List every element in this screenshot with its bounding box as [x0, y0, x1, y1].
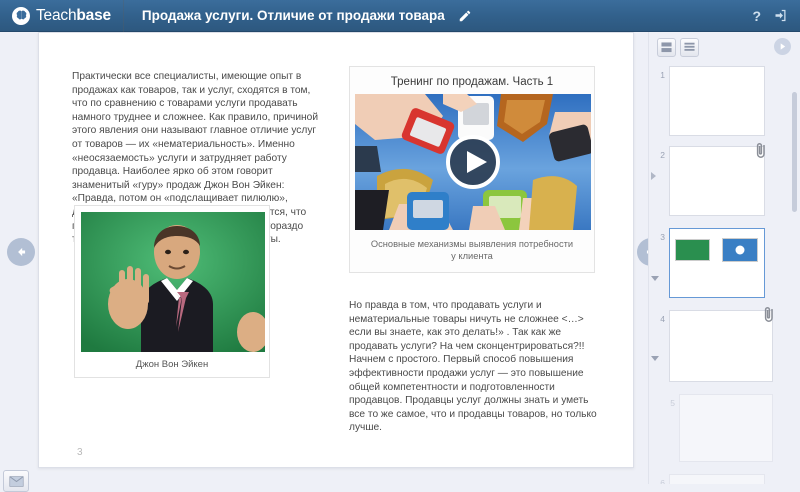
list-item[interactable]: 3 [649, 228, 800, 298]
slide-canvas: Практически все специалисты, имеющие опы… [38, 32, 634, 468]
list-item[interactable]: 6 [649, 474, 800, 484]
right-text-column: Но правда в том, что продавать услуги и … [349, 299, 599, 435]
topbar-actions: ? [752, 8, 800, 24]
envelope-icon [9, 476, 24, 487]
document-title: Продажа услуги. Отличие от продажи товар… [142, 8, 445, 23]
list-item[interactable]: 5 [659, 394, 800, 462]
logout-icon[interactable] [773, 8, 788, 23]
list-item[interactable]: 2 [649, 146, 800, 216]
portrait-figure: Джон Вон Эйкен [74, 205, 270, 378]
thumbnail-number: 4 [649, 310, 665, 324]
topbar-divider [123, 0, 124, 32]
brand-suffix: base [76, 7, 111, 24]
collapse-panel-icon[interactable] [774, 38, 791, 55]
video-player[interactable] [355, 94, 591, 230]
prev-page-button[interactable] [7, 238, 35, 266]
portrait-image [81, 212, 265, 352]
brand-prefix: Teach [36, 7, 76, 24]
top-bar: Teachbase Продажа услуги. Отличие от про… [0, 0, 800, 32]
video-figure: Тренинг по продажам. Часть 1 [349, 66, 595, 273]
thumbnail-sidebar: 1 2 [648, 32, 800, 484]
help-icon[interactable]: ? [752, 8, 761, 24]
messages-button[interactable] [3, 470, 29, 492]
expand-marker[interactable] [651, 172, 656, 180]
thumbnail-number: 1 [649, 66, 665, 80]
thumbnail-number: 2 [649, 146, 665, 160]
page-number: 3 [77, 447, 83, 458]
paragraph-right: Но правда в том, что продавать услуги и … [349, 299, 599, 435]
view-mode-toggle [657, 38, 699, 57]
thumbnail-page-5[interactable] [679, 394, 773, 462]
workspace: Практически все специалисты, имеющие опы… [0, 32, 800, 484]
thumbnail-number: 5 [659, 394, 675, 408]
view-list-icon[interactable] [680, 38, 699, 57]
attachment-clip-icon [763, 306, 776, 323]
thumbnail-list[interactable]: 1 2 [649, 62, 800, 484]
collapse-marker[interactable] [651, 356, 659, 361]
video-caption: Основные механизмы выявления потребности… [355, 230, 589, 266]
attachment-clip-icon [755, 142, 768, 159]
thumbnail-page-2[interactable] [669, 146, 765, 216]
portrait-caption: Джон Вон Эйкен [81, 352, 263, 373]
sidebar-header [649, 32, 800, 62]
list-item[interactable]: 1 [649, 66, 800, 136]
brain-icon [12, 7, 30, 25]
thumbnail-page-1[interactable] [669, 66, 765, 136]
collapse-marker[interactable] [651, 276, 659, 281]
pencil-icon[interactable] [457, 8, 473, 24]
arrow-left-icon [14, 245, 28, 259]
brand-logo[interactable]: Teachbase [0, 7, 111, 25]
thumbnail-page-6[interactable] [669, 474, 765, 484]
thumbnail-page-3[interactable] [669, 228, 765, 298]
brand-name: Teachbase [36, 7, 111, 25]
list-item[interactable]: 4 [649, 310, 800, 382]
sidebar-scrollbar[interactable] [792, 92, 797, 212]
view-split-icon[interactable] [657, 38, 676, 57]
video-title: Тренинг по продажам. Часть 1 [355, 72, 589, 94]
thumbnail-page-4[interactable] [669, 310, 773, 382]
thumbnail-number: 6 [649, 474, 665, 484]
play-button-icon[interactable] [446, 135, 500, 189]
thumbnail-number: 3 [649, 228, 665, 242]
